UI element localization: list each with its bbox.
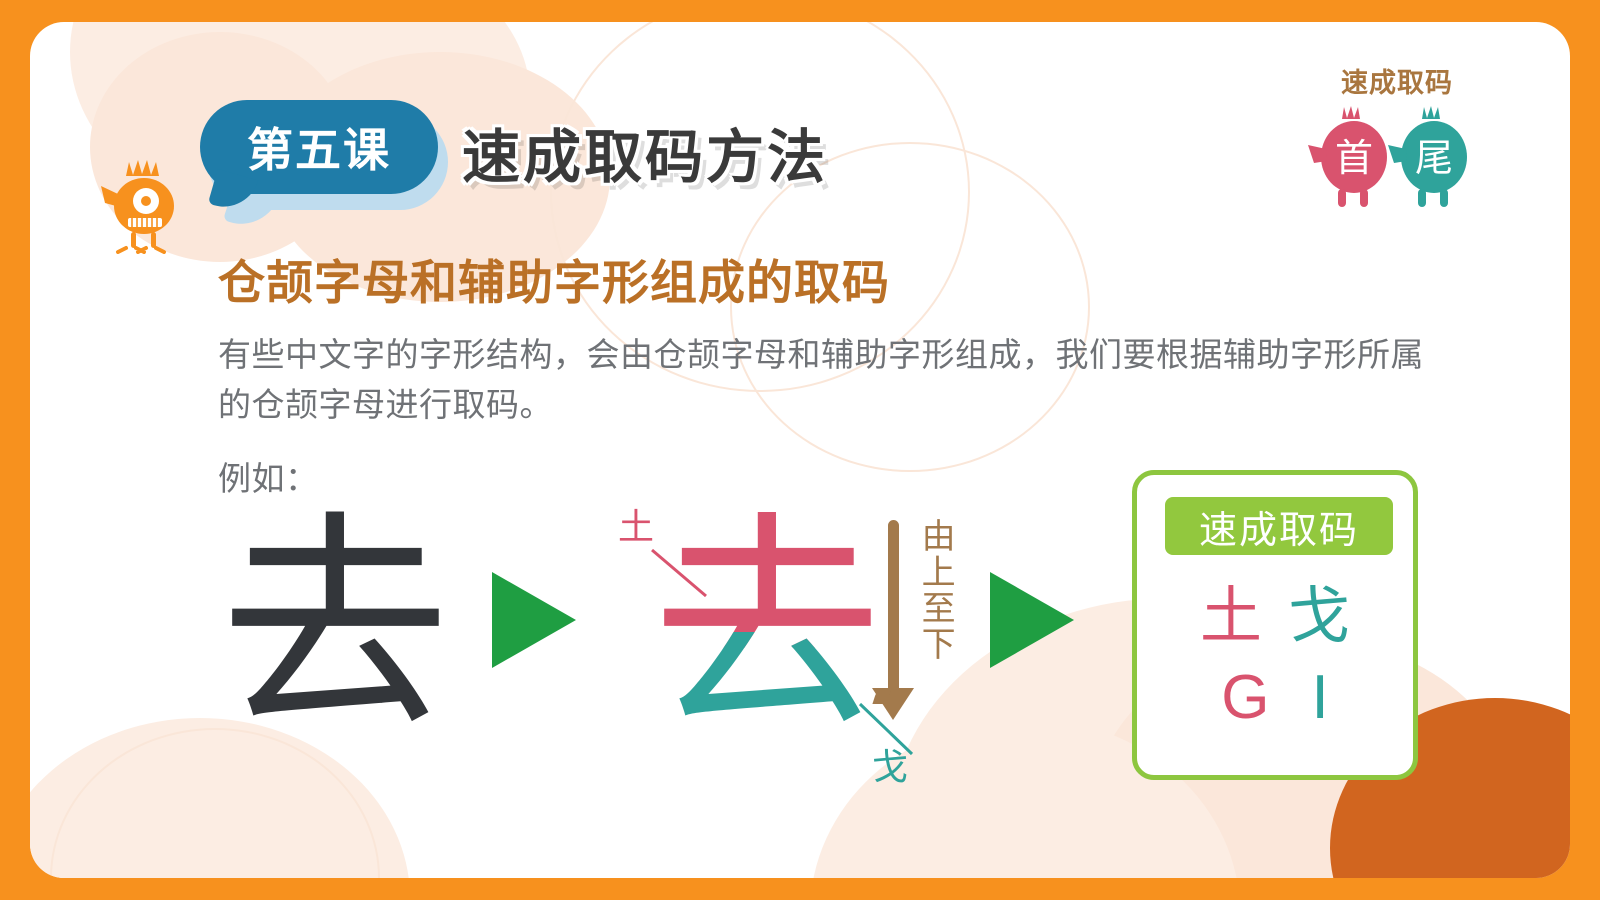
down-arrow-icon (888, 520, 899, 698)
direction-note: 由上至下 (916, 518, 954, 662)
lesson-badge-bubble: 第五课 (200, 100, 438, 194)
result-code-first: G (1221, 667, 1269, 729)
result-glyph-first: 土 (1200, 585, 1262, 647)
brand-logo: 速成取码 首 (1302, 70, 1492, 210)
brand-logo-label: 速成取码 (1302, 70, 1492, 97)
brand-logo-mascots: 首 尾 (1302, 105, 1492, 209)
result-card: 速成取码 土 戈 G I (1132, 470, 1418, 780)
top-part-label: 土 (618, 510, 654, 546)
flow-arrow-icon (990, 572, 1074, 668)
section-heading: 仓颉字母和辅助字形组成的取码 (218, 244, 890, 313)
example-flow: 去 去 去 土 戈 (200, 492, 1460, 822)
svg-text:首: 首 (1335, 136, 1373, 180)
body-paragraph: 有些中文字的字形结构，会由仓颉字母和辅助字形组成，我们要根据辅助字形所属的仓颉字… (218, 330, 1443, 430)
slide-root: 第五课 速成取码方法 速成取码 (0, 0, 1600, 900)
down-arrow-head-icon (872, 688, 914, 720)
result-code-row: G I (1137, 667, 1413, 729)
slide-card: 第五课 速成取码方法 速成取码 (30, 22, 1570, 878)
bottom-part-label: 戈 (872, 750, 908, 786)
result-glyph-row: 土 戈 (1137, 585, 1413, 647)
monster-mascot-icon (98, 156, 190, 254)
result-badge: 速成取码 (1165, 497, 1393, 555)
direction-indicator: 由上至下 (876, 520, 996, 750)
result-glyph-last: 戈 (1288, 585, 1350, 647)
lesson-badge-label: 第五课 (247, 114, 391, 180)
svg-text:尾: 尾 (1415, 136, 1453, 180)
page-title: 速成取码方法 (462, 110, 828, 194)
lesson-badge: 第五课 (200, 100, 450, 210)
result-code-last: I (1312, 667, 1329, 729)
